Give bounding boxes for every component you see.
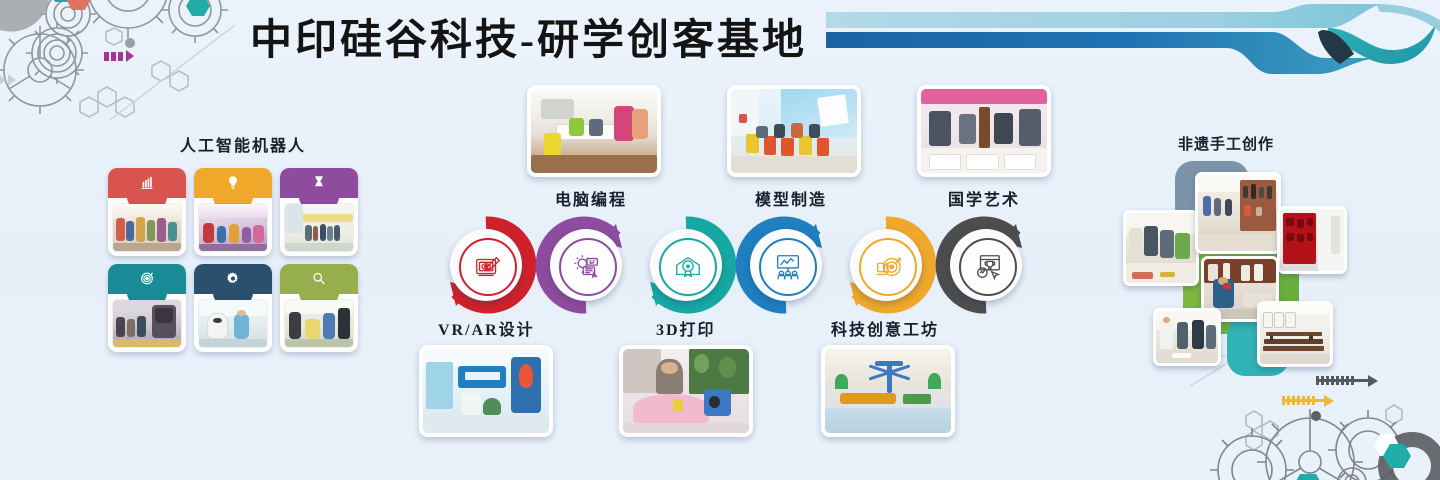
- card-hourglass[interactable]: [280, 168, 358, 256]
- card-header-target: [108, 264, 186, 294]
- page-title: 中印硅谷科技-研学创客基地: [250, 6, 807, 67]
- card-bar-chart[interactable]: [108, 168, 186, 256]
- card-photo-2: [199, 204, 267, 251]
- coding-icon: [559, 238, 617, 296]
- label-chinese-arts: 国学艺术: [948, 186, 1020, 210]
- magnifier-icon: [312, 271, 327, 290]
- poster-canvas: 中印硅谷科技-研学创客基地 人工智能机器人: [0, 0, 1440, 480]
- presentation-team-icon: [759, 238, 817, 296]
- target-icon: [140, 271, 155, 290]
- section-label-intangible-heritage: 非遗手工创作: [1178, 133, 1274, 154]
- card-header-magnifier: [280, 264, 358, 294]
- bar-chart-icon: [140, 175, 155, 194]
- card-header-hourglass: [280, 168, 358, 198]
- ring-tech-workshop[interactable]: [832, 216, 940, 314]
- photo-model-making[interactable]: [727, 85, 861, 177]
- ring-vr-ar-design[interactable]: [432, 216, 540, 314]
- label-vr-ar-design: VR/AR设计: [438, 316, 535, 340]
- card-target[interactable]: [108, 264, 186, 352]
- card-photo-5: [199, 300, 267, 347]
- photo-vr-ar-lab[interactable]: [419, 345, 553, 437]
- ring-computer-programming[interactable]: [532, 216, 640, 314]
- photo-craft-workshop-group[interactable]: [1123, 210, 1199, 286]
- photo-craft-classroom[interactable]: [1257, 301, 1333, 367]
- section-label-ai-robotics: 人工智能机器人: [180, 132, 306, 156]
- ring-chinese-arts[interactable]: [932, 216, 1040, 314]
- lightbulb-icon: [226, 175, 241, 194]
- target-projector-icon: [859, 238, 917, 296]
- card-header-lightbulb: [194, 168, 272, 198]
- label-computer-programming: 电脑编程: [555, 186, 627, 210]
- card-photo-6: [285, 300, 353, 347]
- photo-3d-printing[interactable]: [619, 345, 753, 437]
- label-3d-printing: 3D打印: [656, 316, 716, 340]
- vr-design-icon: [459, 238, 517, 296]
- ring-3d-printing[interactable]: [632, 216, 740, 314]
- ring-model-making[interactable]: [732, 216, 840, 314]
- card-photo-4: [113, 300, 181, 347]
- award-badge-icon: [659, 238, 717, 296]
- card-gear[interactable]: [194, 264, 272, 352]
- ribbon-banner: [820, 2, 1440, 88]
- photo-craft-display-hall[interactable]: [1195, 172, 1281, 254]
- photo-computer-programming[interactable]: [527, 85, 661, 177]
- photo-chinese-arts[interactable]: [917, 85, 1051, 177]
- gear-icon: [226, 271, 241, 290]
- process-ring-row: [432, 216, 1042, 314]
- photo-tech-workshop[interactable]: [821, 345, 955, 437]
- photo-craft-visitors[interactable]: [1153, 308, 1221, 366]
- trophy-screen-icon: [959, 238, 1017, 296]
- card-photo-3: [285, 204, 353, 251]
- card-header-bar-chart: [108, 168, 186, 198]
- intangible-heritage-cluster: [1105, 158, 1355, 368]
- gear-decoration-bottom-right: [1190, 350, 1440, 480]
- photo-craft-red-shelf[interactable]: [1277, 206, 1347, 274]
- hourglass-icon: [312, 175, 327, 194]
- label-tech-workshop: 科技创意工坊: [831, 316, 939, 340]
- label-model-making: 模型制造: [755, 186, 827, 210]
- card-lightbulb[interactable]: [194, 168, 272, 256]
- ai-robotics-card-grid: [108, 168, 358, 358]
- card-photo-1: [113, 204, 181, 251]
- card-magnifier[interactable]: [280, 264, 358, 352]
- gear-decoration-top-left: [0, 0, 280, 120]
- card-header-gear: [194, 264, 272, 294]
